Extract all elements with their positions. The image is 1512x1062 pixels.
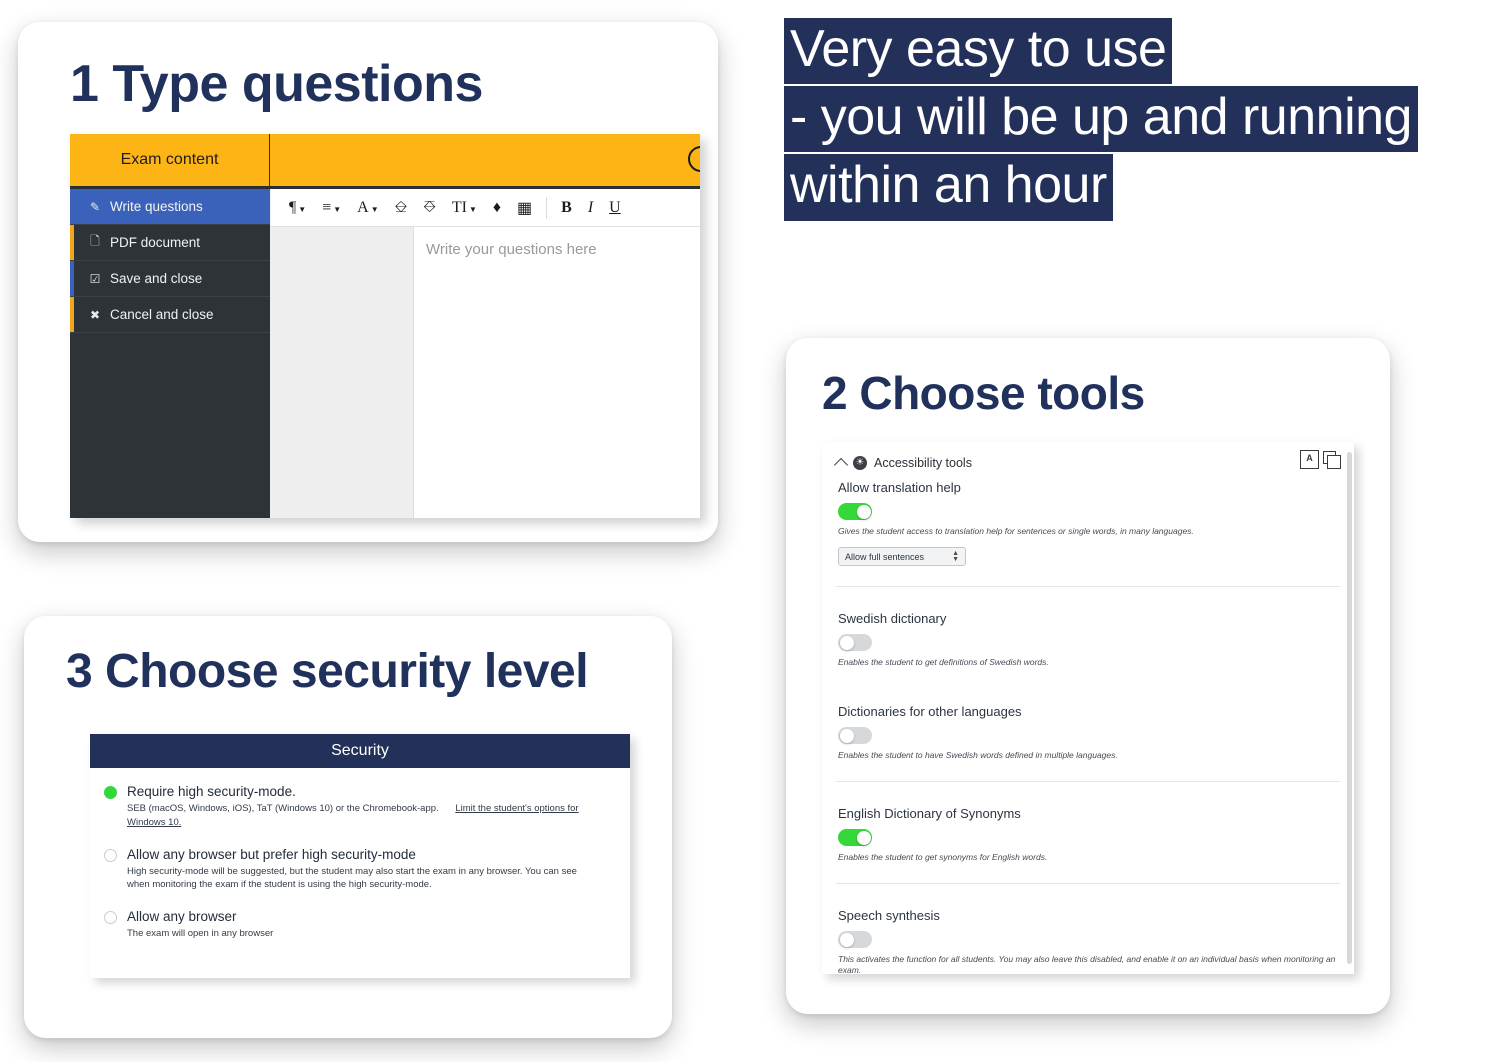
align-icon[interactable]: ≡▼	[314, 194, 349, 222]
icon-glyph: ♦	[493, 199, 501, 217]
card-security-title: 3 Choose security level	[66, 644, 588, 700]
security-panel: Security Require high security-mode. SEB…	[90, 734, 630, 978]
tool-help-text: Enables the student to get definitions o…	[836, 657, 1340, 668]
translate-icon[interactable]: A	[1300, 450, 1319, 469]
chevron-down-icon: ▼	[469, 205, 477, 214]
toggle-knob	[857, 831, 871, 845]
sidebar-item-cancel-and-close[interactable]: ✖ Cancel and close	[70, 297, 270, 333]
circle-icon[interactable]	[688, 146, 700, 172]
security-option-label: Require high security-mode.	[127, 784, 597, 799]
toggle-dictionaries-other-languages[interactable]	[838, 727, 872, 744]
copy-icon[interactable]	[1323, 451, 1340, 468]
translation-mode-value: Allow full sentences	[845, 552, 924, 562]
tool-help-text: This activates the function for all stud…	[836, 954, 1340, 974]
table-icon[interactable]: ▦	[509, 194, 540, 222]
editor-canvas[interactable]: ¶▼ ≡▼ A▼ ⎒ ⎑ TI▼ ♦ ▦ B I U Write your qu…	[414, 189, 700, 518]
radio-allow-any-browser-prefer-high[interactable]	[104, 849, 117, 862]
security-panel-body: Require high security-mode. SEB (macOS, …	[90, 768, 630, 941]
icon-glyph: TI	[452, 199, 467, 217]
tool-help-text: Enables the student to have Swedish word…	[836, 750, 1340, 761]
headline: Very easy to use - you will be up and ru…	[784, 18, 1484, 223]
text-size-icon[interactable]: TI▼	[444, 194, 485, 222]
toggle-knob	[840, 933, 854, 947]
icon-glyph: ¶	[289, 199, 296, 217]
security-option-desc: The exam will open in any browser	[127, 927, 273, 941]
tool-label: Swedish dictionary	[836, 611, 1340, 626]
security-option-desc: High security-mode will be suggested, bu…	[127, 865, 597, 893]
security-option-require-high[interactable]: Require high security-mode. SEB (macOS, …	[104, 784, 616, 830]
security-option-desc: SEB (macOS, Windows, iOS), TaT (Windows …	[127, 802, 597, 830]
tool-label: Dictionaries for other languages	[836, 704, 1340, 719]
headline-line-1: Very easy to use	[784, 18, 1172, 84]
indent-decrease-icon[interactable]: ⎑	[415, 194, 444, 222]
tool-help-text: Gives the student access to translation …	[836, 526, 1340, 537]
translation-mode-select[interactable]: Allow full sentences ▲▼	[838, 547, 966, 566]
tool-row-other-language-dictionaries: Dictionaries for other languages Enables…	[836, 698, 1340, 761]
bold-icon[interactable]: B	[553, 194, 580, 222]
tool-label: Speech synthesis	[836, 908, 1340, 923]
toggle-swedish-dictionary[interactable]	[838, 634, 872, 651]
toggle-allow-translation-help[interactable]	[838, 503, 872, 520]
icon-glyph: ▦	[517, 198, 532, 218]
sidebar-item-label: Cancel and close	[110, 307, 214, 322]
icon-glyph: A	[357, 199, 369, 217]
tool-row-translation-help: Allow translation help Gives the student…	[836, 474, 1340, 566]
toggle-knob	[840, 636, 854, 650]
editor-topbar: Exam content	[70, 134, 700, 189]
sidebar-item-save-and-close[interactable]: ☑ Save and close	[70, 261, 270, 297]
accessibility-tools-panel: ☀ Accessibility tools A Allow translatio…	[822, 442, 1354, 974]
security-option-text: Require high security-mode. SEB (macOS, …	[127, 784, 597, 830]
tool-label: English Dictionary of Synonyms	[836, 806, 1340, 821]
paragraph-format-icon[interactable]: ¶▼	[281, 194, 314, 222]
card-type-questions-title: 1 Type questions	[70, 54, 483, 114]
card-choose-tools-title: 2 Choose tools	[822, 366, 1145, 420]
chevron-down-icon: ▼	[371, 205, 379, 214]
security-option-desc-text: SEB (macOS, Windows, iOS), TaT (Windows …	[127, 803, 439, 814]
check-square-icon: ☑	[88, 272, 102, 286]
headline-line-2: - you will be up and running	[784, 86, 1418, 152]
security-option-label: Allow any browser	[127, 909, 273, 924]
security-panel-header: Security	[90, 734, 630, 768]
pencil-square-icon: ✎	[88, 200, 102, 214]
tools-header-icons: A	[1300, 450, 1340, 469]
editor-body: ✎ Write questions 🗋 PDF document ☑ Save …	[70, 189, 700, 518]
close-x-icon: ✖	[88, 308, 102, 322]
stepper-arrows-icon: ▲▼	[952, 551, 959, 563]
question-editor-placeholder: Write your questions here	[426, 241, 597, 258]
headline-line-3: within an hour	[784, 154, 1113, 220]
sidebar-item-label: Write questions	[110, 199, 203, 214]
toggle-knob	[840, 729, 854, 743]
card-type-questions: 1 Type questions Exam content ✎ Write qu…	[18, 22, 718, 542]
exam-editor-window: Exam content ✎ Write questions 🗋 PDF doc…	[70, 134, 700, 518]
icon-glyph: B	[561, 199, 572, 217]
security-option-any-browser[interactable]: Allow any browser The exam will open in …	[104, 909, 616, 941]
editor-gutter	[270, 189, 414, 518]
security-option-prefer-high[interactable]: Allow any browser but prefer high securi…	[104, 847, 616, 893]
italic-icon[interactable]: I	[580, 194, 601, 222]
sidebar-item-write-questions[interactable]: ✎ Write questions	[70, 189, 270, 225]
indent-increase-icon[interactable]: ⎒	[387, 194, 416, 222]
icon-glyph: U	[609, 199, 621, 217]
toggle-knob	[857, 505, 871, 519]
tool-row-speech-synthesis: Speech synthesis This activates the func…	[836, 883, 1340, 974]
sidebar-item-label: Save and close	[110, 271, 202, 286]
toolbar-divider	[546, 197, 547, 219]
tool-help-text: Enables the student to get synonyms for …	[836, 852, 1340, 863]
chevron-down-icon: ▼	[298, 205, 306, 214]
accessibility-icon: ☀	[853, 456, 867, 470]
icon-glyph: I	[588, 199, 593, 217]
radio-require-high-security[interactable]	[104, 786, 117, 799]
editor-topbar-right	[270, 134, 700, 186]
copy-icon-front	[1327, 455, 1341, 469]
chevron-down-icon: ▼	[333, 205, 341, 214]
underline-icon[interactable]: U	[601, 194, 629, 222]
icon-glyph: ≡	[322, 199, 331, 217]
accessibility-tools-label: Accessibility tools	[874, 456, 972, 470]
tool-row-english-synonyms: English Dictionary of Synonyms Enables t…	[836, 781, 1340, 863]
font-color-icon[interactable]: A▼	[349, 194, 386, 222]
sidebar-item-label: PDF document	[110, 235, 200, 250]
editor-toolbar: ¶▼ ≡▼ A▼ ⎒ ⎑ TI▼ ♦ ▦ B I U	[271, 189, 700, 227]
sidebar-item-pdf-document[interactable]: 🗋 PDF document	[70, 225, 270, 261]
card-choose-tools: 2 Choose tools ☀ Accessibility tools A A…	[786, 338, 1390, 1014]
panel-scrollbar[interactable]	[1347, 452, 1352, 964]
tool-label: Allow translation help	[836, 480, 1340, 495]
security-option-label: Allow any browser but prefer high securi…	[127, 847, 597, 862]
editor-sidebar: ✎ Write questions 🗋 PDF document ☑ Save …	[70, 189, 270, 518]
icon-glyph: ⎑	[423, 199, 436, 217]
card-security: 3 Choose security level Security Require…	[24, 616, 672, 1038]
exam-content-label: Exam content	[70, 134, 270, 186]
security-option-text: Allow any browser but prefer high securi…	[127, 847, 597, 893]
tool-row-swedish-dictionary: Swedish dictionary Enables the student t…	[836, 586, 1340, 668]
toggle-english-dictionary-of-synonyms[interactable]	[838, 829, 872, 846]
radio-allow-any-browser[interactable]	[104, 911, 117, 924]
highlight-color-icon[interactable]: ♦	[485, 194, 509, 222]
pdf-file-icon: 🗋	[88, 232, 102, 253]
accessibility-tools-header[interactable]: ☀ Accessibility tools A	[836, 452, 1340, 474]
icon-glyph: ⎒	[395, 199, 408, 217]
chevron-up-icon[interactable]	[834, 458, 848, 472]
security-option-text: Allow any browser The exam will open in …	[127, 909, 273, 941]
toggle-speech-synthesis[interactable]	[838, 931, 872, 948]
